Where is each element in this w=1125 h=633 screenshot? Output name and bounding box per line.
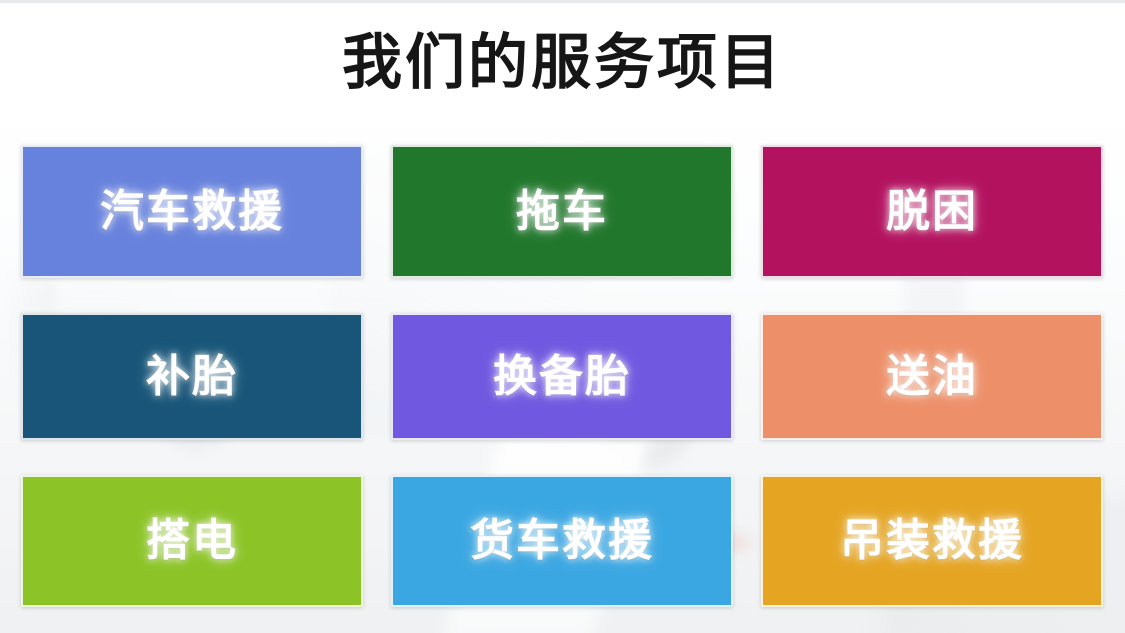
service-tile-tire-repair[interactable]: 补胎 xyxy=(21,313,363,440)
top-divider xyxy=(0,0,1125,3)
service-tile-label: 汽车救援 xyxy=(100,190,284,234)
service-tile-label: 补胎 xyxy=(146,355,238,399)
service-tile-spare-tire-change[interactable]: 换备胎 xyxy=(391,313,733,440)
service-tile-label: 吊装救援 xyxy=(840,519,1024,563)
service-tile-label: 货车救援 xyxy=(470,519,654,563)
service-tile-truck-rescue[interactable]: 货车救援 xyxy=(391,475,733,607)
service-tile-fuel-delivery[interactable]: 送油 xyxy=(761,313,1103,440)
service-tile-extrication[interactable]: 脱困 xyxy=(761,145,1103,278)
service-tile-towing[interactable]: 拖车 xyxy=(391,145,733,278)
service-tile-hoisting-rescue[interactable]: 吊装救援 xyxy=(761,475,1103,607)
page-title-text: 我们的服务项目 xyxy=(342,33,783,93)
service-poster: 我们的服务项目 汽车救援 拖车 脱困 补胎 换备胎 送油 搭电 货车救援 吊装救… xyxy=(0,0,1125,633)
service-tile-label: 拖车 xyxy=(516,190,608,234)
service-tile-grid: 汽车救援 拖车 脱困 补胎 换备胎 送油 搭电 货车救援 吊装救援 xyxy=(21,145,1104,615)
service-tile-jump-start[interactable]: 搭电 xyxy=(21,475,363,607)
service-tile-label: 搭电 xyxy=(146,519,238,563)
page-title: 我们的服务项目 xyxy=(0,0,1125,126)
service-tile-label: 送油 xyxy=(886,355,978,399)
service-tile-car-rescue[interactable]: 汽车救援 xyxy=(21,145,363,278)
service-tile-label: 脱困 xyxy=(886,190,978,234)
service-tile-label: 换备胎 xyxy=(493,355,631,399)
